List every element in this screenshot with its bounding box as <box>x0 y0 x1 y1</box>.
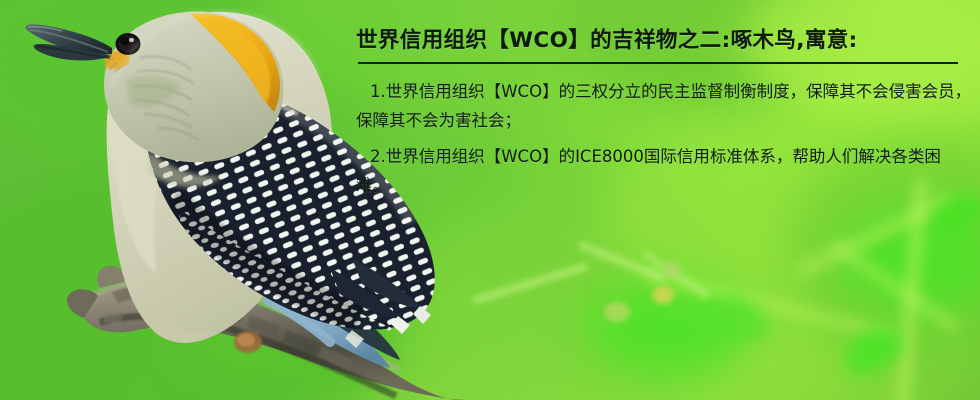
background-bud <box>604 302 630 322</box>
list-item: 2.世界信用组织【WCO】的ICE8000国际信用标准体系，帮助人们解决各类困难… <box>356 142 972 200</box>
bird-beak <box>26 24 112 60</box>
text-panel: 世界信用组织【WCO】的吉祥物之二:啄木鸟,寓意: 1.世界信用组织【WCO】的… <box>348 24 972 234</box>
title-underline <box>358 62 958 64</box>
mascot-meaning-list: 1.世界信用组织【WCO】的三权分立的民主监督制衡制度，保障其不会侵害会员，保障… <box>348 77 972 200</box>
list-item: 1.世界信用组织【WCO】的三权分立的民主监督制衡制度，保障其不会侵害会员，保障… <box>356 77 972 135</box>
page-title: 世界信用组织【WCO】的吉祥物之二:啄木鸟,寓意: <box>356 24 972 58</box>
background-bud <box>664 262 682 278</box>
wco-mascot-banner: 世界信用组织【WCO】的吉祥物之二:啄木鸟,寓意: 1.世界信用组织【WCO】的… <box>0 0 980 400</box>
background-bud <box>652 286 674 304</box>
